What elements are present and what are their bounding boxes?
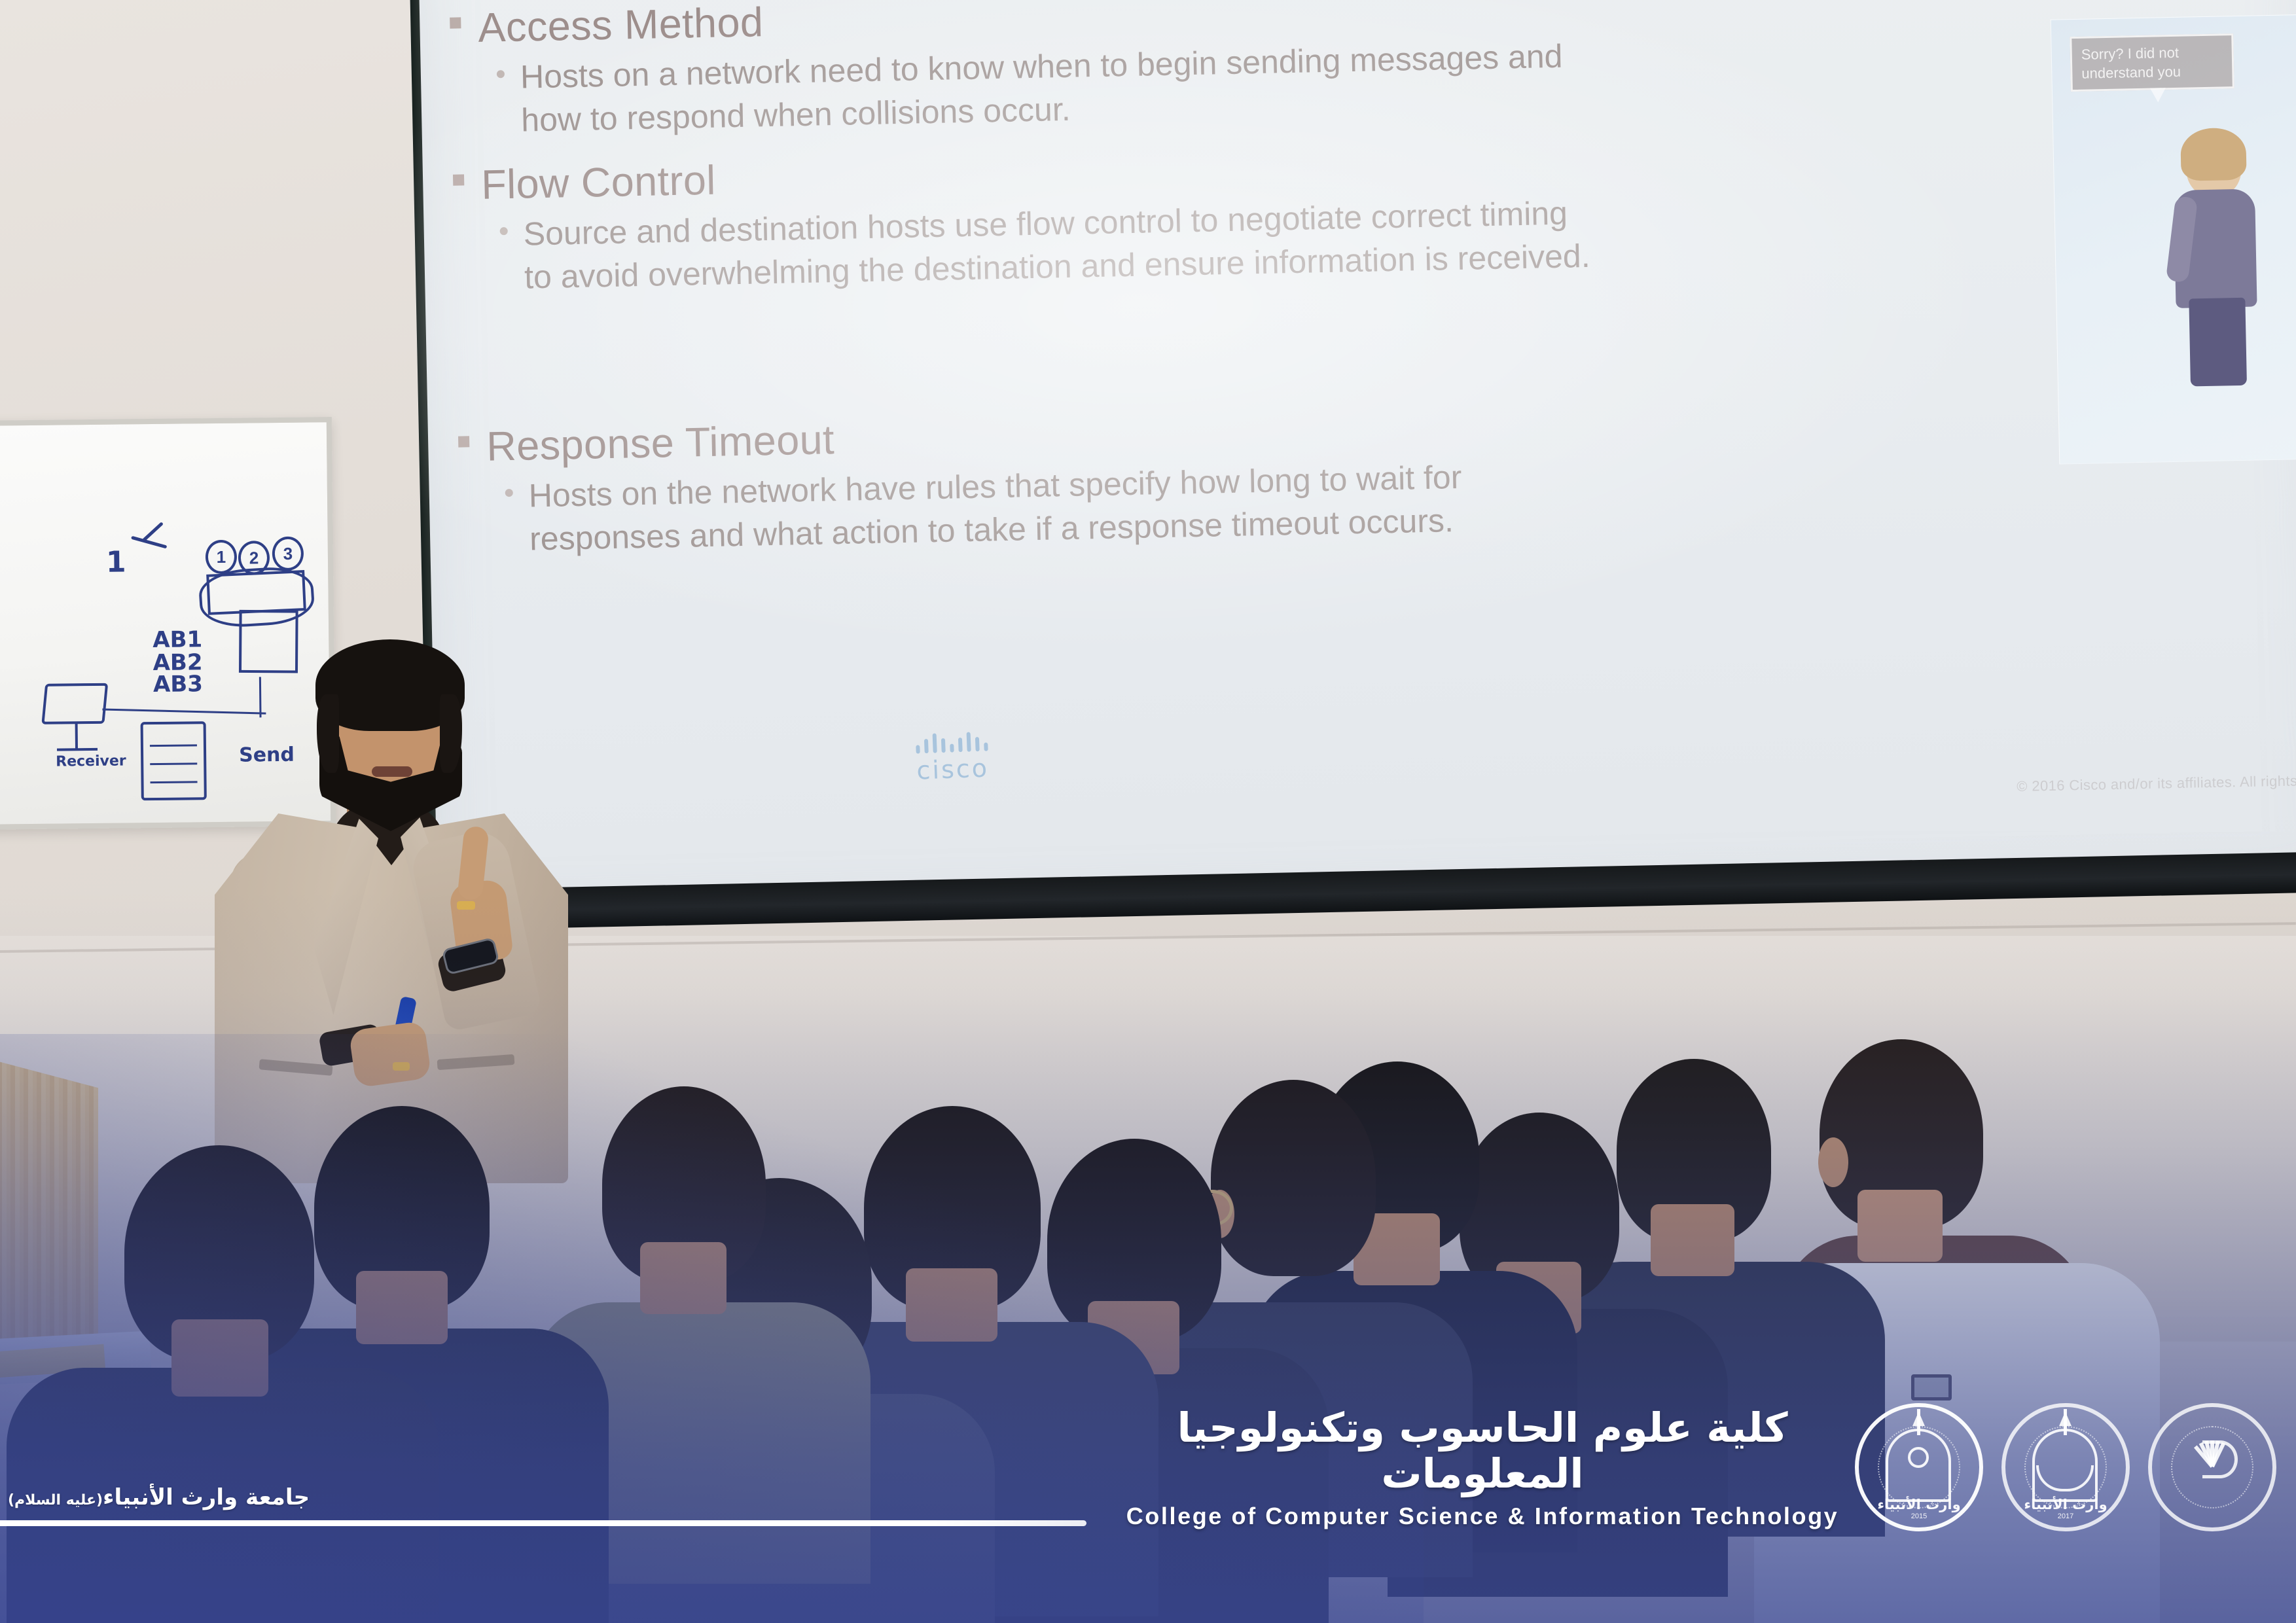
seal-arabic-text: وارث الأنبياء xyxy=(1875,1497,1963,1512)
audience-neck xyxy=(1857,1190,1943,1262)
audience-neck xyxy=(171,1319,268,1397)
footer-logos: وارث الأنبياء 2015 وارث الأنبياء 2017 xyxy=(1855,1403,2276,1531)
slide-bullet-detail-2: Source and destination hosts use flow co… xyxy=(499,190,1626,299)
figure-woman-on-phone xyxy=(2158,132,2281,397)
college-name-english: College of Computer Science & Informatio… xyxy=(1113,1503,1852,1530)
university-name-arabic: جامعة وارث الأنبياء(عليه السلام) xyxy=(8,1484,310,1510)
whiteboard-base xyxy=(57,748,98,751)
college-branding: كلية علوم الحاسوب وتكنولوجيا المعلومات C… xyxy=(1113,1405,1852,1530)
seal-crescent-icon xyxy=(2202,1440,2238,1478)
seal-year: 2017 xyxy=(2022,1512,2109,1520)
college-name-arabic: كلية علوم الحاسوب وتكنولوجيا المعلومات xyxy=(1113,1405,1852,1496)
seal-year: 2015 xyxy=(1875,1512,1963,1520)
audience-neck xyxy=(640,1242,726,1314)
presenter-sideburn-left xyxy=(317,694,339,773)
audience-ear xyxy=(1818,1137,1848,1187)
university-warith-seal-icon: وارث الأنبياء 2017 xyxy=(2001,1403,2130,1531)
cisco-bars-icon xyxy=(889,728,1014,755)
shirt-label-patch xyxy=(1911,1374,1952,1400)
square-bullet-icon xyxy=(458,436,469,447)
lecture-photo-stage: 1 1 2 3 AB1 AB2 AB3 Receiver Send xyxy=(0,0,2296,1623)
whiteboard-terminal xyxy=(41,683,108,724)
seal-emblem-icon xyxy=(1908,1447,1929,1468)
slide-illustration: Sorry? I did not understand you Sorry? I… xyxy=(2051,9,2296,465)
presenter xyxy=(196,638,602,1181)
whiteboard-stand xyxy=(75,722,78,750)
footer-divider-rule xyxy=(0,1520,1086,1526)
square-bullet-icon xyxy=(453,174,464,185)
wooden-door-panel xyxy=(0,1060,98,1368)
round-bullet-icon xyxy=(505,489,513,497)
speech-bubble-left: Sorry? I did not understand you xyxy=(2070,33,2234,92)
audience-neck xyxy=(356,1271,448,1344)
audience-neck xyxy=(906,1268,997,1342)
ministry-higher-education-seal-icon xyxy=(2148,1403,2276,1531)
slide-content: Access Method Hosts on a network need to… xyxy=(409,0,2296,929)
slide-bullet-heading-1: Access Method xyxy=(450,0,764,52)
cisco-logo: cisco xyxy=(889,728,1016,786)
presenter-ring-right xyxy=(457,901,475,910)
figure-legs xyxy=(2189,298,2247,387)
presenter-left-hand xyxy=(348,1020,431,1088)
seal-arabic-text: وارث الأنبياء xyxy=(2022,1497,2109,1512)
round-bullet-icon xyxy=(497,70,505,78)
audience-member xyxy=(602,1086,798,1479)
whiteboard-label-ab3: AB3 xyxy=(153,671,203,698)
presenter-ring-left xyxy=(393,1062,410,1071)
slide-bullet-heading-3: Response Timeout xyxy=(458,417,835,471)
slide-copyright: © 2016 Cisco and/or its affiliates. All … xyxy=(2017,768,2296,794)
university-warith-college-seal-icon: وارث الأنبياء 2015 xyxy=(1855,1403,1983,1531)
projection-screen: Access Method Hosts on a network need to… xyxy=(409,0,2296,929)
round-bullet-icon xyxy=(500,227,508,235)
whiteboard-label-receiver: Receiver xyxy=(56,753,126,770)
square-bullet-icon xyxy=(450,17,461,28)
cisco-wordmark: cisco xyxy=(890,753,1016,786)
slide-bullet-heading-2: Flow Control xyxy=(453,158,717,209)
figure-hair xyxy=(2180,128,2247,181)
whiteboard-arrow-2 xyxy=(142,522,164,542)
whiteboard-label-1: 1 xyxy=(106,545,126,579)
slide-bullet-detail-3: Hosts on the network have rules that spe… xyxy=(505,452,1632,561)
audience-neck xyxy=(1651,1204,1734,1276)
whiteboard-node-3: 3 xyxy=(272,537,304,571)
whiteboard-node-1: 1 xyxy=(206,540,238,574)
slide-bullet-detail-1: Hosts on a network need to know when to … xyxy=(496,33,1623,142)
whiteboard-arrow-1 xyxy=(131,536,167,549)
presenter-mouth xyxy=(372,766,412,777)
